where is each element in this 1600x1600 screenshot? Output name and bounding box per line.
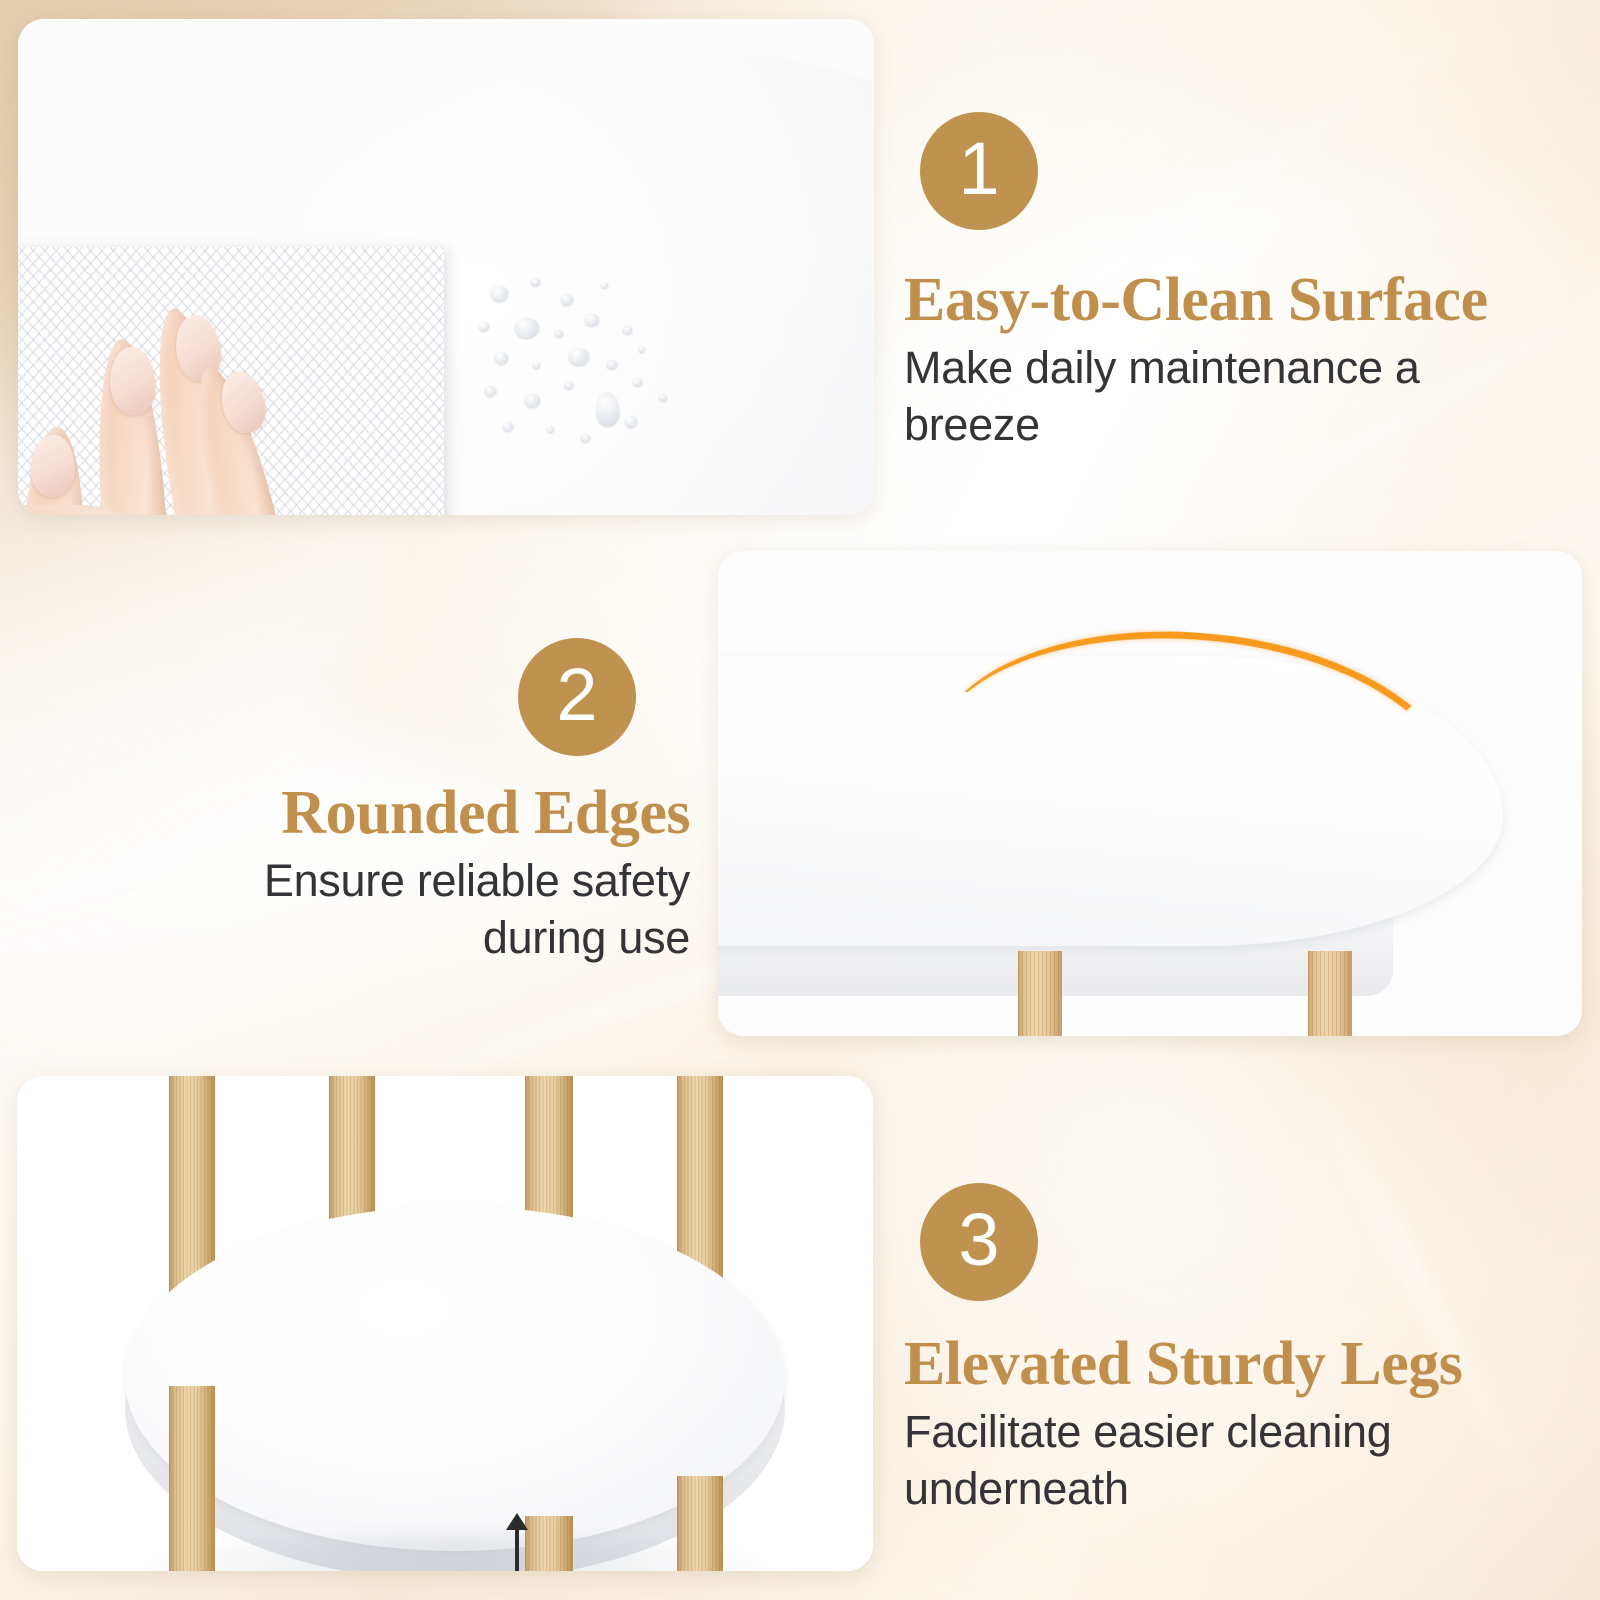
- photo-rounded-edge-closeup: [718, 551, 1582, 1036]
- photo-card-elevated-legs[interactable]: 3": [17, 1076, 873, 1571]
- photo3-leg-lower-left: [169, 1386, 215, 1571]
- feature-subtitle-1: Make daily maintenance a breeze: [904, 340, 1544, 453]
- feature-title-2: Rounded Edges: [281, 780, 690, 847]
- photo1-hand: [18, 309, 398, 515]
- photo3-leg-lower-center: [525, 1516, 573, 1571]
- product-feature-infographic: 3" 1 Easy-to-Clean Surface Make daily ma…: [0, 0, 1600, 1600]
- arrow-head-up-icon: [506, 1513, 528, 1530]
- photo3-leg-lower-right: [677, 1476, 723, 1571]
- photo-lower-shelf-and-legs: 3": [17, 1076, 873, 1571]
- photo2-bamboo-leg-right: [1308, 951, 1352, 1036]
- photo-hand-wiping-tabletop: [18, 19, 874, 515]
- dimension-line: [515, 1523, 519, 1571]
- photo-card-easy-to-clean[interactable]: [18, 19, 874, 515]
- photo2-bamboo-leg-left: [1018, 951, 1062, 1036]
- photo1-water-droplets: [473, 274, 713, 464]
- feature-subtitle-2: Ensure reliable safety during use: [130, 853, 690, 966]
- photo-card-rounded-edges[interactable]: [718, 551, 1582, 1036]
- feature-badge-2: 2: [518, 638, 636, 756]
- feature-title-1: Easy-to-Clean Surface: [904, 267, 1488, 334]
- feature-title-3: Elevated Sturdy Legs: [904, 1331, 1462, 1398]
- feature-badge-1: 1: [920, 112, 1038, 230]
- feature-badge-3: 3: [920, 1183, 1038, 1301]
- leg-clearance-arrow: [502, 1513, 532, 1571]
- feature-subtitle-3: Facilitate easier cleaning underneath: [904, 1404, 1544, 1517]
